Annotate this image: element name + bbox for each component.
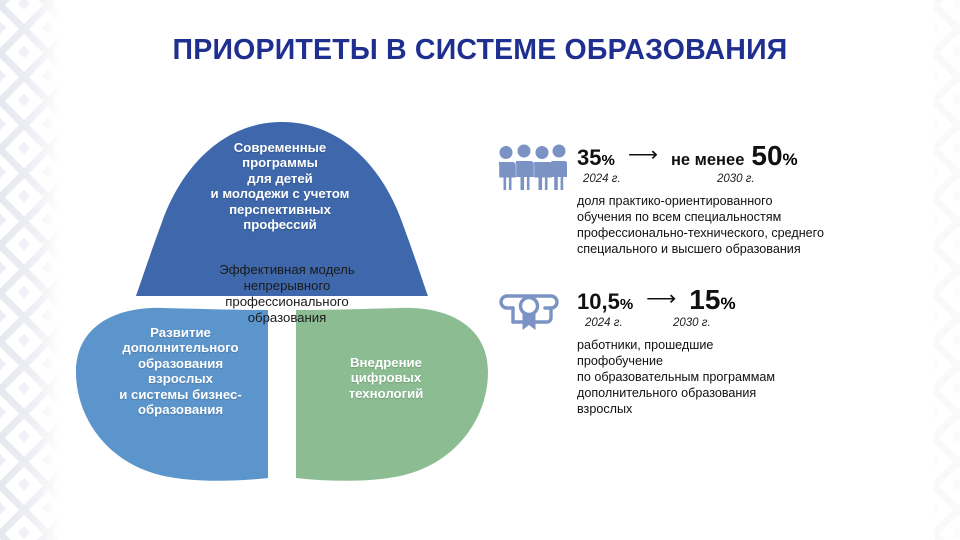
lobe-right-line-1: Внедрение bbox=[310, 355, 462, 370]
stat-desc-line-4: дополнительного образования bbox=[577, 386, 925, 402]
center-line-2: непрерывного bbox=[182, 278, 392, 294]
lobe-top-line-2: программы bbox=[176, 155, 384, 170]
stat-description: работники, прошедшие профобучение по обр… bbox=[577, 338, 925, 418]
lobe-right-line-3: технологий bbox=[310, 386, 462, 401]
lobe-left-line-5: и системы бизнес- bbox=[78, 387, 283, 402]
stat-desc-line-3: профессионально-технического, среднего bbox=[577, 226, 925, 242]
ornament-pattern-left bbox=[0, 0, 62, 540]
arrow-right-icon: ⟶ bbox=[646, 288, 676, 309]
lobe-top-label: Современные программы для детей и молоде… bbox=[176, 140, 384, 233]
arrow-right-icon: ⟶ bbox=[628, 144, 658, 165]
stat-from-value: 35 bbox=[577, 145, 601, 171]
lobe-left-line-3: образования bbox=[78, 356, 283, 371]
stat-to-value: 15 bbox=[689, 284, 720, 316]
stat-figures-row: 35% ⟶ не менее 50% bbox=[577, 140, 925, 172]
diploma-scroll-icon bbox=[495, 282, 577, 334]
page-title: ПРИОРИТЕТЫ В СИСТЕМЕ ОБРАЗОВАНИЯ bbox=[0, 34, 960, 67]
lobe-left-line-6: образования bbox=[78, 402, 283, 417]
ornament-pattern-right bbox=[934, 0, 960, 540]
lobe-top-line-6: профессий bbox=[176, 217, 384, 232]
stat-years-row: 2024 г. 2030 г. bbox=[577, 173, 925, 189]
stat-from-percent: % bbox=[620, 296, 633, 313]
lobe-left-line-1: Развитие bbox=[78, 325, 283, 340]
center-line-4: образования bbox=[182, 310, 392, 326]
lobe-top-line-5: перспективных bbox=[176, 202, 384, 217]
stat-desc-line-5: взрослых bbox=[577, 402, 925, 418]
stat-from-year: 2024 г. bbox=[583, 173, 621, 185]
trefoil-diagram: Современные программы для детей и молоде… bbox=[72, 110, 492, 490]
stat-description: доля практико-ориентированного обучения … bbox=[577, 194, 925, 258]
group-of-people-icon bbox=[495, 138, 577, 190]
lobe-left-line-4: взрослых bbox=[78, 371, 283, 386]
statistics-panel: 35% ⟶ не менее 50% 2024 г. 2030 г. доля … bbox=[495, 138, 925, 442]
stat-to-percent: % bbox=[783, 150, 798, 170]
stat-years-row: 2024 г. 2030 г. bbox=[577, 317, 925, 333]
stat-desc-line-2: обучения по всем специальностям bbox=[577, 210, 925, 226]
stat-from-value: 10,5 bbox=[577, 289, 620, 315]
slide-canvas: ПРИОРИТЕТЫ В СИСТЕМЕ ОБРАЗОВАНИЯ Совреме… bbox=[0, 0, 960, 540]
stat-to-year: 2030 г. bbox=[673, 317, 711, 329]
stat-block-professional-training: 10,5% ⟶ 15% 2024 г. 2030 г. работники, п… bbox=[495, 282, 925, 418]
stat-from-year: 2024 г. bbox=[585, 317, 623, 329]
lobe-top-line-1: Современные bbox=[176, 140, 384, 155]
stat-from-percent: % bbox=[601, 152, 614, 169]
stat-to-value: 50 bbox=[751, 140, 782, 172]
center-line-1: Эффективная модель bbox=[182, 262, 392, 278]
center-line-3: профессионального bbox=[182, 294, 392, 310]
lobe-right-label: Внедрение цифровых технологий bbox=[310, 355, 462, 401]
lobe-left-line-2: дополнительного bbox=[78, 340, 283, 355]
stat-desc-line-4: специального и высшего образования bbox=[577, 242, 925, 258]
lobe-right-line-2: цифровых bbox=[310, 370, 462, 385]
stat-to-year: 2030 г. bbox=[717, 173, 755, 185]
stat-to-prefix: не менее bbox=[671, 151, 744, 170]
stat-desc-line-1: доля практико-ориентированного bbox=[577, 194, 925, 210]
stat-figures-row: 10,5% ⟶ 15% bbox=[577, 284, 925, 316]
stat-to-percent: % bbox=[720, 294, 735, 314]
lobe-left-label: Развитие дополнительного образования взр… bbox=[78, 325, 283, 418]
lobe-top-line-3: для детей bbox=[176, 171, 384, 186]
stat-desc-line-3: по образовательным программам bbox=[577, 370, 925, 386]
diagram-center-label: Эффективная модель непрерывного професси… bbox=[182, 262, 392, 325]
lobe-top-line-4: и молодежи с учетом bbox=[176, 186, 384, 201]
stat-block-practical-training: 35% ⟶ не менее 50% 2024 г. 2030 г. доля … bbox=[495, 138, 925, 258]
stat-desc-line-1: работники, прошедшие bbox=[577, 338, 925, 354]
stat-desc-line-2: профобучение bbox=[577, 354, 925, 370]
